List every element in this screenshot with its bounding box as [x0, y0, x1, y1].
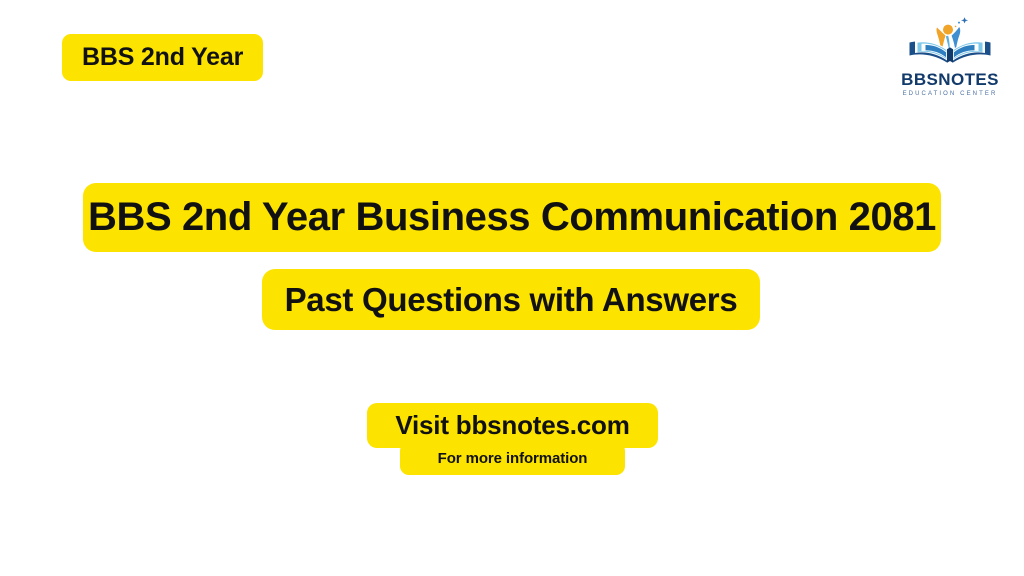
hero-subtitle-block: Past Questions with Answers — [262, 269, 760, 330]
brand-logo: BBSNOTES EDUCATION CENTER — [896, 14, 1004, 102]
hero-subtitle: Past Questions with Answers — [285, 281, 738, 319]
hero-title-block: BBS 2nd Year Business Communication 2081 — [83, 183, 941, 252]
course-badge: BBS 2nd Year — [62, 34, 263, 81]
brand-wordmark: BBSNOTES — [901, 71, 999, 88]
course-badge-label: BBS 2nd Year — [82, 43, 243, 72]
poster-canvas: BBS 2nd Year — [0, 0, 1024, 576]
brand-tagline: EDUCATION CENTER — [903, 91, 998, 97]
hero-title: BBS 2nd Year Business Communication 2081 — [88, 195, 936, 240]
open-book-with-figure-icon — [904, 14, 996, 70]
visit-site-label: Visit bbsnotes.com — [395, 410, 629, 441]
more-info-label: For more information — [438, 450, 588, 467]
visit-site-block: Visit bbsnotes.com — [367, 403, 658, 448]
